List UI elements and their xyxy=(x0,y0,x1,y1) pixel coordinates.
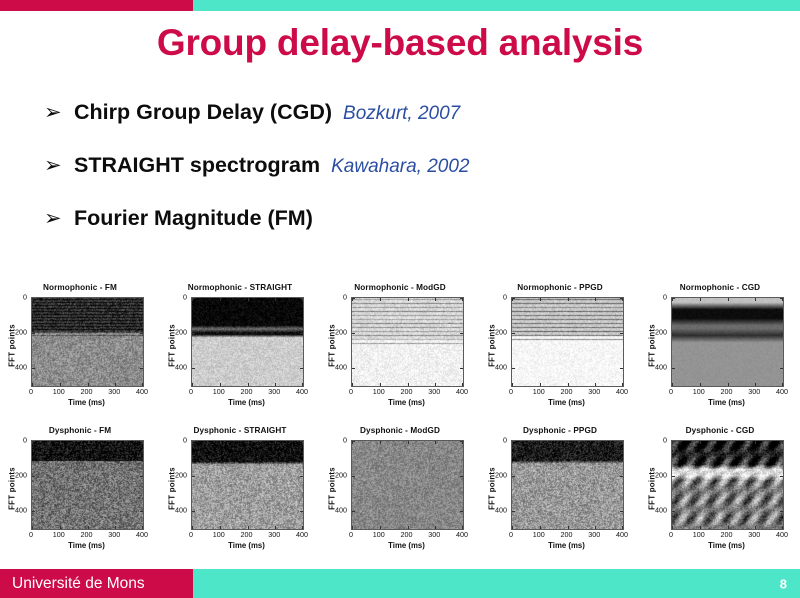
y-tick-label: 200 xyxy=(175,471,187,480)
panel-title: Dysphonic - PPGD xyxy=(480,426,640,435)
x-axis-tick xyxy=(435,383,436,386)
x-axis-tick xyxy=(275,526,276,529)
bullet-citation: Kawahara, 2002 xyxy=(331,156,469,178)
x-tick-label: 400 xyxy=(296,530,308,539)
x-axis-tick xyxy=(248,526,249,529)
spectrogram-panel: Normophonic - CGDFFT points0200400010020… xyxy=(640,283,800,426)
x-axis-tick xyxy=(435,441,436,444)
x-axis-tick xyxy=(88,298,89,301)
panel-title: Dysphonic - STRAIGHT xyxy=(160,426,320,435)
top-bar-turquoise-segment xyxy=(193,0,800,11)
arrow-bullet-icon: ➢ xyxy=(44,155,74,176)
x-axis-tick xyxy=(540,526,541,529)
y-tick-label: 0 xyxy=(503,436,507,445)
y-tick-label: 200 xyxy=(655,471,667,480)
spectrogram-image xyxy=(512,298,623,386)
y-tick-label: 200 xyxy=(15,328,27,337)
y-axis-ticklabels: 0200400 xyxy=(168,440,189,528)
institution-label: Université de Mons xyxy=(12,575,145,593)
x-axis-tick xyxy=(380,298,381,301)
y-tick-label: 400 xyxy=(495,363,507,372)
x-axis-tick xyxy=(540,383,541,386)
x-axis-tick xyxy=(568,526,569,529)
x-tick-label: 0 xyxy=(349,530,353,539)
x-axis-tick xyxy=(782,526,783,529)
plot-area xyxy=(191,440,304,530)
spectrogram-image xyxy=(512,441,623,529)
x-axis-tick xyxy=(115,298,116,301)
x-axis-tick xyxy=(220,526,221,529)
x-axis-tick xyxy=(700,298,701,301)
x-tick-label: 300 xyxy=(268,530,280,539)
y-axis-tick xyxy=(32,368,35,369)
y-axis-tick xyxy=(300,511,303,512)
x-tick-label: 100 xyxy=(373,530,385,539)
y-axis-tick xyxy=(352,333,355,334)
spectrogram-image xyxy=(352,298,463,386)
x-axis-tick xyxy=(755,526,756,529)
x-tick-label: 200 xyxy=(401,530,413,539)
x-tick-label: 0 xyxy=(189,387,193,396)
y-axis-tick xyxy=(32,441,35,442)
x-axis-tick xyxy=(380,441,381,444)
bullet-label: STRAIGHT spectrogram xyxy=(74,153,320,178)
x-axis-tick xyxy=(60,526,61,529)
plot-area xyxy=(191,297,304,387)
y-axis-tick xyxy=(140,298,143,299)
x-tick-label: 100 xyxy=(53,530,65,539)
x-tick-label: 200 xyxy=(401,387,413,396)
y-tick-label: 200 xyxy=(335,471,347,480)
x-tick-label: 200 xyxy=(561,530,573,539)
x-tick-label: 300 xyxy=(748,387,760,396)
y-axis-tick xyxy=(32,476,35,477)
x-tick-label: 400 xyxy=(136,530,148,539)
y-tick-label: 0 xyxy=(183,436,187,445)
y-axis-tick xyxy=(780,511,783,512)
x-axis-title: Time (ms) xyxy=(191,541,302,550)
x-axis-title: Time (ms) xyxy=(191,398,302,407)
y-axis-tick xyxy=(352,511,355,512)
y-axis-tick xyxy=(512,368,515,369)
x-tick-label: 400 xyxy=(776,530,788,539)
x-axis-tick xyxy=(352,526,353,529)
spectrogram-image xyxy=(32,441,143,529)
x-axis-tick xyxy=(595,441,596,444)
x-tick-label: 0 xyxy=(509,530,513,539)
spectrogram-panel: Normophonic - ModGDFFT points02004000100… xyxy=(320,283,480,426)
x-tick-label: 0 xyxy=(509,387,513,396)
x-axis-title: Time (ms) xyxy=(671,541,782,550)
x-axis-tick xyxy=(408,298,409,301)
spectrogram-panel: Dysphonic - PPGDFFT points02004000100200… xyxy=(480,426,640,569)
x-tick-label: 400 xyxy=(136,387,148,396)
x-tick-label: 0 xyxy=(29,530,33,539)
x-axis-tick xyxy=(32,383,33,386)
x-tick-label: 0 xyxy=(349,387,353,396)
x-axis-title: Time (ms) xyxy=(31,541,142,550)
panel-title: Normophonic - FM xyxy=(0,283,160,292)
y-tick-label: 0 xyxy=(23,293,27,302)
x-axis-tick xyxy=(462,526,463,529)
x-axis-tick xyxy=(275,298,276,301)
plot-area xyxy=(351,297,464,387)
x-tick-label: 200 xyxy=(81,530,93,539)
spectrogram-panel: Dysphonic - CGDFFT points020040001002003… xyxy=(640,426,800,569)
y-tick-label: 0 xyxy=(343,293,347,302)
y-axis-tick xyxy=(32,298,35,299)
y-axis-tick xyxy=(460,298,463,299)
spectrogram-image xyxy=(672,441,783,529)
x-axis-ticklabels: 0100200300400 xyxy=(31,530,142,540)
y-axis-tick xyxy=(780,333,783,334)
y-axis-tick xyxy=(460,368,463,369)
x-axis-tick xyxy=(622,526,623,529)
y-tick-label: 400 xyxy=(655,506,667,515)
y-axis-tick xyxy=(192,476,195,477)
y-axis-tick xyxy=(672,441,675,442)
y-axis-tick xyxy=(300,333,303,334)
x-axis-tick xyxy=(220,383,221,386)
x-axis-tick xyxy=(728,383,729,386)
x-axis-tick xyxy=(568,298,569,301)
bullet-label: Chirp Group Delay (CGD) xyxy=(74,100,332,125)
panel-title: Dysphonic - FM xyxy=(0,426,160,435)
x-axis-tick xyxy=(540,441,541,444)
y-axis-tick xyxy=(140,511,143,512)
x-tick-label: 400 xyxy=(776,387,788,396)
x-tick-label: 400 xyxy=(296,387,308,396)
x-tick-label: 100 xyxy=(533,387,545,396)
y-axis-tick xyxy=(300,368,303,369)
x-axis-title: Time (ms) xyxy=(671,398,782,407)
x-axis-tick xyxy=(88,526,89,529)
y-tick-label: 0 xyxy=(23,436,27,445)
y-axis-ticklabels: 0200400 xyxy=(488,297,509,385)
y-axis-tick xyxy=(672,368,675,369)
y-axis-tick xyxy=(620,333,623,334)
spectrogram-panel: Normophonic - STRAIGHTFFT points02004000… xyxy=(160,283,320,426)
spectrogram-figure: Normophonic - FMFFT points02004000100200… xyxy=(0,283,800,568)
y-axis-tick xyxy=(512,476,515,477)
y-tick-label: 400 xyxy=(335,363,347,372)
y-axis-tick xyxy=(512,333,515,334)
y-axis-tick xyxy=(192,441,195,442)
x-axis-tick xyxy=(192,383,193,386)
x-axis-tick xyxy=(302,383,303,386)
y-axis-ticklabels: 0200400 xyxy=(328,440,349,528)
bullet-citation: Bozkurt, 2007 xyxy=(343,103,460,125)
y-axis-ticklabels: 0200400 xyxy=(648,297,669,385)
x-tick-label: 300 xyxy=(588,530,600,539)
y-axis-tick xyxy=(192,368,195,369)
x-tick-label: 100 xyxy=(533,530,545,539)
y-axis-tick xyxy=(620,511,623,512)
x-tick-label: 100 xyxy=(53,387,65,396)
x-tick-label: 0 xyxy=(189,530,193,539)
figure-row-dysphonic: Dysphonic - FMFFT points0200400010020030… xyxy=(0,426,800,569)
y-tick-label: 400 xyxy=(175,363,187,372)
figure-row-normophonic: Normophonic - FMFFT points02004000100200… xyxy=(0,283,800,426)
x-tick-label: 300 xyxy=(748,530,760,539)
y-tick-label: 200 xyxy=(15,471,27,480)
page-number: 8 xyxy=(780,576,787,591)
y-axis-tick xyxy=(672,476,675,477)
y-axis-ticklabels: 0200400 xyxy=(8,297,29,385)
y-tick-label: 400 xyxy=(15,506,27,515)
y-axis-tick xyxy=(140,333,143,334)
y-axis-tick xyxy=(460,333,463,334)
x-axis-tick xyxy=(115,441,116,444)
y-tick-label: 0 xyxy=(663,436,667,445)
x-axis-tick xyxy=(728,526,729,529)
x-axis-tick xyxy=(142,526,143,529)
x-tick-label: 300 xyxy=(588,387,600,396)
x-tick-label: 0 xyxy=(669,387,673,396)
spectrogram-image xyxy=(672,298,783,386)
x-axis-title: Time (ms) xyxy=(31,398,142,407)
y-axis-tick xyxy=(352,441,355,442)
list-item: ➢ Fourier Magnitude (FM) xyxy=(44,206,764,232)
panel-title: Normophonic - STRAIGHT xyxy=(160,283,320,292)
y-axis-tick xyxy=(192,511,195,512)
x-axis-tick xyxy=(755,298,756,301)
x-tick-label: 400 xyxy=(456,530,468,539)
x-axis-tick xyxy=(672,383,673,386)
x-axis-tick xyxy=(568,383,569,386)
y-axis-tick xyxy=(352,476,355,477)
x-tick-label: 300 xyxy=(108,387,120,396)
y-axis-tick xyxy=(780,476,783,477)
x-axis-tick xyxy=(408,526,409,529)
y-tick-label: 200 xyxy=(495,328,507,337)
page-title: Group delay-based analysis xyxy=(0,22,800,64)
y-axis-tick xyxy=(140,441,143,442)
x-tick-label: 300 xyxy=(268,387,280,396)
y-axis-tick xyxy=(620,476,623,477)
x-axis-tick xyxy=(275,441,276,444)
x-axis-tick xyxy=(408,441,409,444)
y-axis-ticklabels: 0200400 xyxy=(168,297,189,385)
spectrogram-panel: Dysphonic - STRAIGHTFFT points0200400010… xyxy=(160,426,320,569)
x-axis-tick xyxy=(352,383,353,386)
y-axis-ticklabels: 0200400 xyxy=(328,297,349,385)
x-tick-label: 100 xyxy=(213,387,225,396)
spectrogram-image xyxy=(32,298,143,386)
y-axis-tick xyxy=(780,441,783,442)
x-tick-label: 200 xyxy=(241,387,253,396)
x-axis-ticklabels: 0100200300400 xyxy=(671,530,782,540)
y-axis-tick xyxy=(512,298,515,299)
panel-title: Normophonic - CGD xyxy=(640,283,800,292)
x-axis-tick xyxy=(275,383,276,386)
x-axis-title: Time (ms) xyxy=(351,398,462,407)
y-axis-ticklabels: 0200400 xyxy=(648,440,669,528)
plot-area xyxy=(671,440,784,530)
y-axis-tick xyxy=(192,298,195,299)
x-axis-tick xyxy=(755,441,756,444)
y-tick-label: 200 xyxy=(335,328,347,337)
panel-title: Normophonic - PPGD xyxy=(480,283,640,292)
spectrogram-panel: Dysphonic - ModGDFFT points0200400010020… xyxy=(320,426,480,569)
bullet-list: ➢ Chirp Group Delay (CGD) Bozkurt, 2007 … xyxy=(44,100,764,259)
x-tick-label: 0 xyxy=(669,530,673,539)
x-axis-tick xyxy=(512,526,513,529)
x-tick-label: 200 xyxy=(561,387,573,396)
x-tick-label: 100 xyxy=(693,530,705,539)
y-tick-label: 400 xyxy=(655,363,667,372)
y-tick-label: 200 xyxy=(495,471,507,480)
y-axis-tick xyxy=(352,298,355,299)
y-tick-label: 200 xyxy=(655,328,667,337)
y-tick-label: 400 xyxy=(175,506,187,515)
footer-crimson-segment: Université de Mons xyxy=(0,569,193,598)
x-axis-tick xyxy=(462,383,463,386)
x-axis-tick xyxy=(32,526,33,529)
y-tick-label: 0 xyxy=(503,293,507,302)
plot-area xyxy=(511,297,624,387)
plot-area xyxy=(351,440,464,530)
x-tick-label: 400 xyxy=(616,530,628,539)
x-axis-tick xyxy=(380,526,381,529)
panel-title: Normophonic - ModGD xyxy=(320,283,480,292)
x-axis-ticklabels: 0100200300400 xyxy=(191,387,302,397)
x-axis-tick xyxy=(700,441,701,444)
x-tick-label: 200 xyxy=(721,387,733,396)
x-tick-label: 300 xyxy=(108,530,120,539)
x-axis-title: Time (ms) xyxy=(511,541,622,550)
x-axis-tick xyxy=(220,441,221,444)
bullet-label: Fourier Magnitude (FM) xyxy=(74,206,313,231)
y-axis-tick xyxy=(300,476,303,477)
x-axis-tick xyxy=(115,383,116,386)
x-axis-tick xyxy=(782,383,783,386)
y-tick-label: 400 xyxy=(495,506,507,515)
plot-area xyxy=(511,440,624,530)
y-axis-tick xyxy=(460,511,463,512)
x-axis-tick xyxy=(728,298,729,301)
x-axis-tick xyxy=(302,526,303,529)
y-axis-ticklabels: 0200400 xyxy=(8,440,29,528)
x-axis-tick xyxy=(380,383,381,386)
panel-title: Dysphonic - ModGD xyxy=(320,426,480,435)
x-tick-label: 100 xyxy=(213,530,225,539)
y-tick-label: 200 xyxy=(175,328,187,337)
x-axis-tick xyxy=(408,383,409,386)
top-bar-crimson-segment xyxy=(0,0,193,11)
arrow-bullet-icon: ➢ xyxy=(44,102,74,123)
list-item: ➢ Chirp Group Delay (CGD) Bozkurt, 2007 xyxy=(44,100,764,126)
y-axis-tick xyxy=(512,441,515,442)
y-axis-tick xyxy=(192,333,195,334)
spectrogram-panel: Normophonic - PPGDFFT points020040001002… xyxy=(480,283,640,426)
y-axis-tick xyxy=(32,333,35,334)
x-tick-label: 200 xyxy=(81,387,93,396)
slide: Group delay-based analysis ➢ Chirp Group… xyxy=(0,0,800,598)
x-axis-tick xyxy=(142,383,143,386)
x-axis-tick xyxy=(595,298,596,301)
x-axis-tick xyxy=(595,383,596,386)
y-axis-tick xyxy=(620,298,623,299)
x-tick-label: 100 xyxy=(373,387,385,396)
x-axis-tick xyxy=(700,526,701,529)
x-axis-ticklabels: 0100200300400 xyxy=(671,387,782,397)
y-axis-tick xyxy=(672,298,675,299)
x-tick-label: 200 xyxy=(721,530,733,539)
footer-bar: Université de Mons 8 xyxy=(0,569,800,598)
x-axis-tick xyxy=(60,383,61,386)
x-axis-tick xyxy=(248,441,249,444)
y-axis-tick xyxy=(672,511,675,512)
x-axis-tick xyxy=(435,526,436,529)
x-axis-tick xyxy=(248,383,249,386)
y-axis-tick xyxy=(672,333,675,334)
x-tick-label: 400 xyxy=(456,387,468,396)
x-tick-label: 400 xyxy=(616,387,628,396)
x-axis-title: Time (ms) xyxy=(351,541,462,550)
x-tick-label: 0 xyxy=(29,387,33,396)
plot-area xyxy=(671,297,784,387)
x-axis-tick xyxy=(622,383,623,386)
y-axis-tick xyxy=(300,441,303,442)
x-axis-tick xyxy=(192,526,193,529)
y-axis-tick xyxy=(620,441,623,442)
x-axis-title: Time (ms) xyxy=(511,398,622,407)
x-axis-tick xyxy=(220,298,221,301)
x-axis-tick xyxy=(88,441,89,444)
y-tick-label: 400 xyxy=(15,363,27,372)
y-tick-label: 0 xyxy=(183,293,187,302)
panel-title: Dysphonic - CGD xyxy=(640,426,800,435)
x-tick-label: 300 xyxy=(428,387,440,396)
y-axis-tick xyxy=(512,511,515,512)
x-axis-tick xyxy=(248,298,249,301)
y-axis-tick xyxy=(460,441,463,442)
y-axis-tick xyxy=(780,368,783,369)
x-tick-label: 200 xyxy=(241,530,253,539)
x-tick-label: 300 xyxy=(428,530,440,539)
x-axis-tick xyxy=(568,441,569,444)
x-axis-ticklabels: 0100200300400 xyxy=(31,387,142,397)
y-axis-tick xyxy=(140,476,143,477)
y-axis-ticklabels: 0200400 xyxy=(488,440,509,528)
y-tick-label: 0 xyxy=(343,436,347,445)
y-axis-tick xyxy=(32,511,35,512)
x-axis-tick xyxy=(540,298,541,301)
spectrogram-image xyxy=(192,298,303,386)
x-axis-tick xyxy=(88,383,89,386)
arrow-bullet-icon: ➢ xyxy=(44,208,74,229)
y-axis-tick xyxy=(300,298,303,299)
y-tick-label: 0 xyxy=(663,293,667,302)
x-axis-tick xyxy=(755,383,756,386)
x-axis-tick xyxy=(512,383,513,386)
spectrogram-image xyxy=(192,441,303,529)
footer-turquoise-segment: 8 xyxy=(193,569,800,598)
x-axis-tick xyxy=(435,298,436,301)
x-tick-label: 100 xyxy=(693,387,705,396)
x-axis-ticklabels: 0100200300400 xyxy=(511,387,622,397)
x-axis-ticklabels: 0100200300400 xyxy=(351,530,462,540)
x-axis-tick xyxy=(672,526,673,529)
x-axis-ticklabels: 0100200300400 xyxy=(351,387,462,397)
spectrogram-panel: Dysphonic - FMFFT points0200400010020030… xyxy=(0,426,160,569)
y-axis-tick xyxy=(352,368,355,369)
x-axis-tick xyxy=(728,441,729,444)
x-axis-tick xyxy=(595,526,596,529)
y-axis-tick xyxy=(460,476,463,477)
plot-area xyxy=(31,440,144,530)
